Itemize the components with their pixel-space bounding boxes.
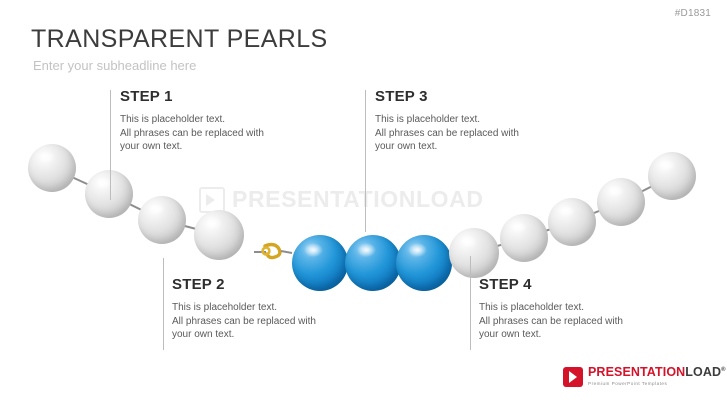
brand-name-second: LOAD xyxy=(685,365,721,379)
pearl-8-grey[interactable] xyxy=(449,228,499,278)
watermark: PRESENTATIONLOAD xyxy=(199,186,484,213)
pearl-highlight xyxy=(304,243,323,258)
step-block-2: STEP 2 This is placeholder text. All phr… xyxy=(172,276,316,342)
leader-line-step-3 xyxy=(365,90,366,232)
brand-name: PRESENTATIONLOAD® xyxy=(588,366,726,379)
step-block-3: STEP 3 This is placeholder text. All phr… xyxy=(375,88,519,154)
step-2-body: This is placeholder text. All phrases ca… xyxy=(172,301,316,342)
page-subtitle: Enter your subheadline here xyxy=(33,58,196,73)
pearl-9-grey[interactable] xyxy=(500,214,548,262)
step-2-heading: STEP 2 xyxy=(172,276,316,293)
pearl-2-grey[interactable] xyxy=(85,170,133,218)
page-title: TRANSPARENT PEARLS xyxy=(31,25,328,54)
pearl-highlight xyxy=(659,159,675,171)
brand-tagline: Premium PowerPoint Templates xyxy=(588,382,726,387)
step-1-heading: STEP 1 xyxy=(120,88,264,105)
pearl-highlight xyxy=(205,217,222,230)
pearl-highlight xyxy=(357,243,376,258)
watermark-text: PRESENTATIONLOAD xyxy=(232,186,484,213)
pearl-highlight xyxy=(408,243,427,258)
step-4-body: This is placeholder text. All phrases ca… xyxy=(479,301,623,342)
pearl-6-blue[interactable] xyxy=(345,235,401,291)
necklace-clasp-icon xyxy=(252,240,294,264)
pearl-highlight xyxy=(511,221,527,233)
step-3-body: This is placeholder text. All phrases ca… xyxy=(375,113,519,154)
pearl-10-grey[interactable] xyxy=(548,198,596,246)
leader-line-step-4 xyxy=(470,256,471,350)
step-4-heading: STEP 4 xyxy=(479,276,623,293)
slide-canvas: #D1831 TRANSPARENT PEARLS Enter your sub… xyxy=(0,0,727,409)
pearl-highlight xyxy=(460,235,477,248)
play-badge-icon xyxy=(563,367,583,387)
brand-name-first: PRESENTATION xyxy=(588,365,685,379)
play-badge-icon xyxy=(199,187,225,213)
document-id: #D1831 xyxy=(675,8,711,19)
pearl-highlight xyxy=(608,185,624,197)
pearl-11-grey[interactable] xyxy=(597,178,645,226)
step-block-1: STEP 1 This is placeholder text. All phr… xyxy=(120,88,264,154)
pearl-highlight xyxy=(559,205,575,217)
step-1-body: This is placeholder text. All phrases ca… xyxy=(120,113,264,154)
pearl-7-blue[interactable] xyxy=(396,235,452,291)
pearl-12-grey[interactable] xyxy=(648,152,696,200)
brand-registered-mark: ® xyxy=(721,367,726,373)
leader-line-step-2 xyxy=(163,258,164,350)
pearl-highlight xyxy=(39,151,55,163)
pearl-4-grey[interactable] xyxy=(194,210,244,260)
step-3-heading: STEP 3 xyxy=(375,88,519,105)
pearl-highlight xyxy=(149,203,165,215)
step-block-4: STEP 4 This is placeholder text. All phr… xyxy=(479,276,623,342)
pearl-3-grey[interactable] xyxy=(138,196,186,244)
leader-line-step-1 xyxy=(110,90,111,200)
brand-logo: PRESENTATIONLOAD® Premium PowerPoint Tem… xyxy=(563,366,726,387)
pearl-1-grey[interactable] xyxy=(28,144,76,192)
